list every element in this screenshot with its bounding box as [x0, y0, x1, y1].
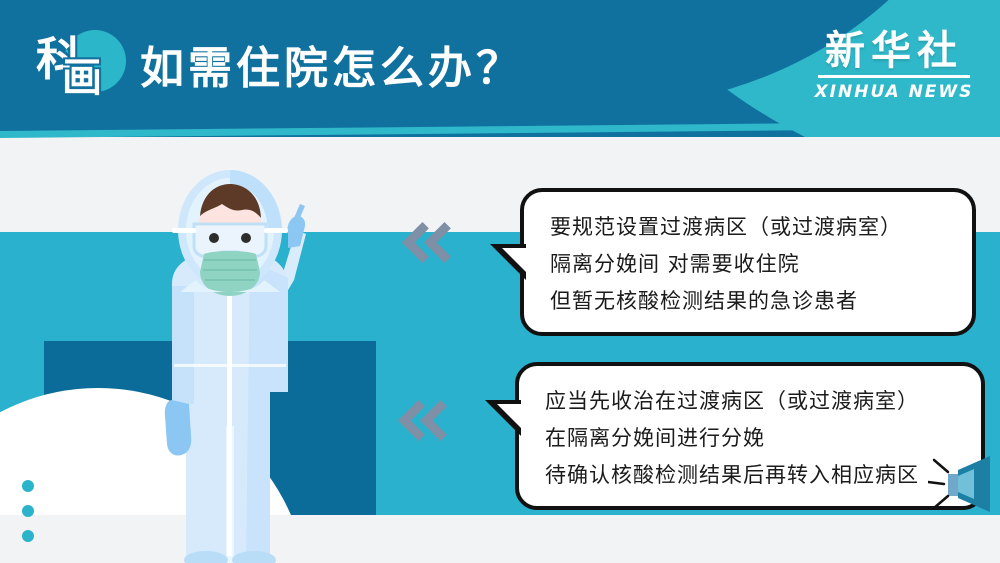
double-chevron-left-icon-1 — [404, 222, 466, 268]
dot-2 — [22, 505, 34, 517]
decorative-dots — [22, 480, 34, 555]
speech-bubble-one: 要规范设置过渡病区（或过渡病室） 隔离分娩间 对需要收住院 但暂无核酸检测结果的… — [520, 188, 976, 336]
xinhua-brand-en: XINHUA NEWS — [806, 82, 982, 102]
double-chevron-left-icon-2 — [400, 400, 462, 446]
logo-char-hua: 画 — [62, 58, 102, 98]
page-title: 如需住院怎么办？ — [140, 32, 524, 96]
bubble-one-line-1: 要规范设置过渡病区（或过渡病室） — [550, 209, 946, 246]
xinhua-brand: 新华社 XINHUA NEWS — [806, 30, 982, 102]
medical-worker-illustration — [110, 168, 350, 563]
bubble-tail-one-fill — [502, 248, 528, 274]
xinhua-brand-rule — [818, 75, 970, 78]
megaphone-icon — [928, 452, 994, 514]
bubble-two-line-1: 应当先收治在过渡病区（或过渡病室） — [545, 383, 955, 420]
dot-1 — [22, 480, 34, 492]
bubble-tail-two-fill — [497, 404, 523, 430]
dot-3 — [22, 530, 34, 542]
speech-bubble-two: 应当先收治在过渡病区（或过渡病室） 在隔离分娩间进行分娩 待确认核酸检测结果后再… — [515, 362, 985, 510]
infographic-poster: 要规范设置过渡病区（或过渡病室） 隔离分娩间 对需要收住院 但暂无核酸检测结果的… — [0, 0, 1000, 563]
header-banner: 科 画 如需住院怎么办？ 新华社 XINHUA NEWS — [0, 0, 1000, 137]
bubble-one-line-2: 隔离分娩间 对需要收住院 — [550, 246, 946, 283]
bubble-one-line-3: 但暂无核酸检测结果的急诊患者 — [550, 283, 946, 320]
kehua-logo: 科 画 — [34, 22, 130, 106]
xinhua-brand-cn: 新华社 — [806, 30, 982, 72]
bubble-two-line-3: 待确认核酸检测结果后再转入相应病区 — [545, 457, 955, 494]
bubble-two-line-2: 在隔离分娩间进行分娩 — [545, 420, 955, 457]
